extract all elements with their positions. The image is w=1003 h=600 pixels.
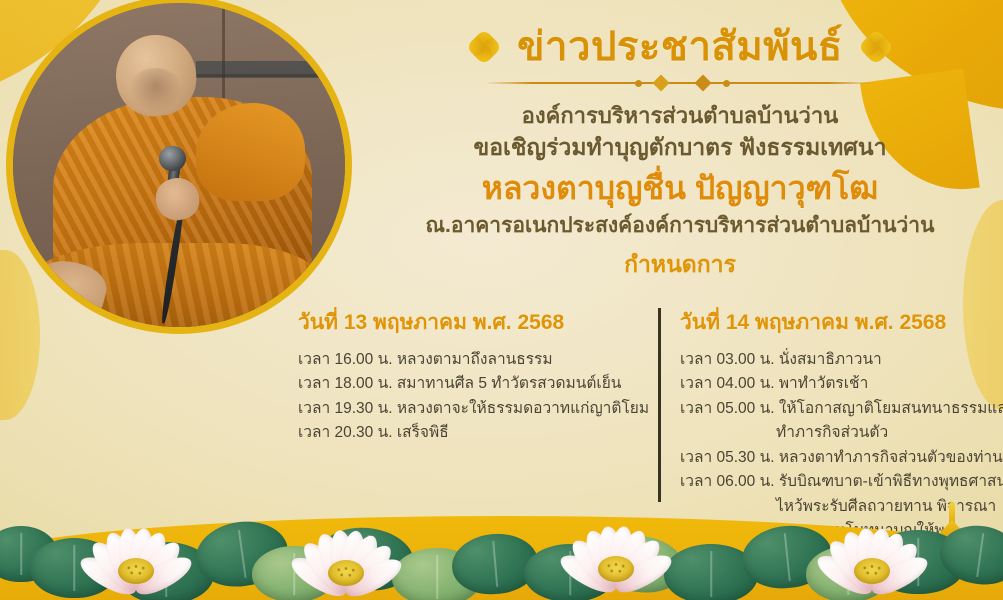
monk-shoulder [196, 103, 306, 200]
day2-date-title: วันที่ 14 พฤษภาคม พ.ศ. 2568 [680, 306, 998, 339]
title-divider-ornament [485, 76, 875, 90]
quatrefoil-icon [861, 32, 891, 62]
lotus-decoration-band [0, 488, 1003, 600]
lotus-flower [556, 504, 676, 596]
photo-wall-seam-horizontal [196, 74, 345, 77]
monk-portrait-illustration [13, 3, 345, 327]
list-item: เวลา 04.00 น. พาทำวัตรเช้า [680, 372, 998, 396]
poster-header: ข่าวประชาสัมพันธ์ องค์การบริหารส่วนตำบลบ… [360, 24, 1000, 283]
lotus-flower [812, 506, 932, 598]
organization-name: องค์การบริหารส่วนตำบลบ้านว่าน [360, 100, 1000, 131]
venue-line: ณ.อาคารอเนกประสงค์องค์การบริหารส่วนตำบลบ… [360, 211, 1000, 240]
page-title: ข่าวประชาสัมพันธ์ [517, 24, 843, 70]
list-item: เวลา 16.00 น. หลวงตามาถึงลานธรรม [298, 348, 638, 372]
event-poster: ข่าวประชาสัมพันธ์ องค์การบริหารส่วนตำบลบ… [0, 0, 1003, 600]
title-row: ข่าวประชาสัมพันธ์ [360, 24, 1000, 70]
monk-name: หลวงตาบุญชื่น ปัญญาวุฑโฒ [360, 168, 1000, 210]
monk-face-shading [129, 68, 182, 113]
list-item: เวลา 18.00 น. สมาทานศีล 5 ทำวัตรสวดมนต์เ… [298, 372, 638, 396]
list-item: เวลา 20.30 น. เสร็จพิธี [298, 421, 638, 445]
list-item: เวลา 19.30 น. หลวงตาจะให้ธรรมดอวาทแก่ญาต… [298, 397, 638, 421]
day1-schedule-list: เวลา 16.00 น. หลวงตามาถึงลานธรรม เวลา 18… [298, 348, 638, 446]
list-item: เวลา 05.30 น. หลวงตาทำภารกิจส่วนตัวของท่… [680, 446, 998, 470]
lotus-flower [286, 508, 406, 600]
lotus-flower [76, 506, 196, 598]
monk-portrait-photo [6, 0, 352, 334]
column-divider [658, 308, 661, 502]
microphone-head [159, 146, 186, 172]
day1-date-title: วันที่ 13 พฤษภาคม พ.ศ. 2568 [298, 306, 638, 339]
list-item: เวลา 03.00 น. นั่งสมาธิภาวนา [680, 348, 998, 372]
agenda-label: กำหนดการ [360, 247, 1000, 283]
list-item: เวลา 05.00 น. ให้โอกาสญาติโยมสนทนาธรรมแล… [680, 397, 998, 421]
list-item-continuation: ทำภารกิจส่วนตัว [680, 421, 998, 445]
invitation-line: ขอเชิญร่วมทำบุญตักบาตร ฟังธรรมเทศนา [360, 131, 1000, 164]
quatrefoil-icon [469, 32, 499, 62]
